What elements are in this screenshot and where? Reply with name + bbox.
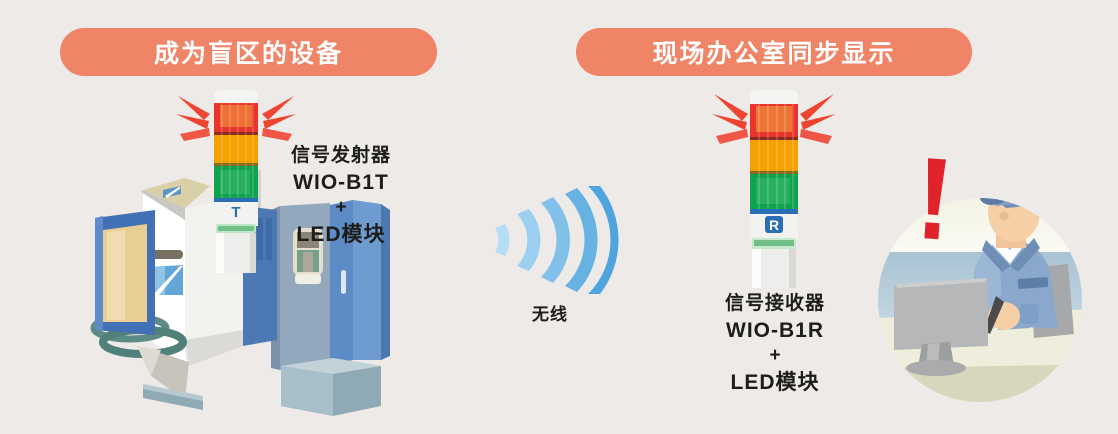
tower-indicator-led <box>754 240 794 246</box>
tower-flash-right-icon <box>800 94 836 144</box>
receiver-caption-cn-top: 信号接收器 <box>700 292 850 317</box>
header-pill-office-sync-display: 现场办公室同步显示 <box>576 28 972 76</box>
transmitter-caption: 信号发射器 WIO-B1T + LED模块 <box>270 144 412 248</box>
wireless-waves-svg <box>487 186 613 294</box>
tower-badge-label: T <box>231 204 240 221</box>
tower-segment-amber <box>750 140 798 174</box>
scene-worker-pocket <box>1018 277 1049 289</box>
tower-segment-amber <box>214 135 258 166</box>
transmitter-caption-cn-top: 信号发射器 <box>270 144 412 169</box>
tower-flash-right-icon <box>262 96 296 141</box>
receiver-caption-cn-bottom: LED模块 <box>700 369 850 396</box>
receiver-caption-plus: + <box>700 344 850 369</box>
transmitter-caption-plus: + <box>270 196 412 221</box>
tower-pole-highlight <box>216 233 224 273</box>
tower-pole-shadow <box>789 249 796 288</box>
machine-hmi-base <box>295 274 321 284</box>
wave-arc-2 <box>517 209 540 271</box>
machine-door-handle <box>341 270 346 294</box>
office-worker-svg <box>878 168 1118 434</box>
tower-flash-left-icon <box>712 94 748 144</box>
wave-arc-3 <box>541 197 570 283</box>
receiver-caption: 信号接收器 WIO-B1R + LED模块 <box>700 292 850 396</box>
tower-badge-label: R <box>769 217 779 233</box>
tower-indicator-led <box>218 226 254 231</box>
tower-segment-red-glow <box>756 106 792 132</box>
machine-drum-edge <box>95 216 103 331</box>
signal-receiver-tower: R <box>712 88 836 288</box>
wireless-waves-icon <box>487 186 613 294</box>
receiver-tower-svg: R <box>712 88 836 288</box>
illustration-canvas: 成为盲区的设备 现场办公室同步显示 <box>0 0 1118 434</box>
scene-worker-cuff <box>1020 304 1038 324</box>
tower-flash-left-icon <box>176 96 210 141</box>
machine-drum-panel-hl <box>107 230 125 320</box>
scene-monitor-screen <box>894 278 988 350</box>
tower-module-stripe <box>750 209 798 214</box>
tower-module-stripe <box>214 198 258 202</box>
machine-hmi-key-center <box>303 252 313 272</box>
transmitter-caption-model: WIO-B1T <box>270 169 412 196</box>
transmitter-caption-cn-bottom: LED模块 <box>270 221 412 248</box>
wave-arc-1 <box>495 224 510 256</box>
tower-segment-red-glow <box>220 105 252 127</box>
alert-exclamation-dot <box>924 222 939 239</box>
header-pill-blind-spot-equipment: 成为盲区的设备 <box>60 28 437 76</box>
office-worker-scene <box>878 168 1118 434</box>
receiver-caption-model: WIO-B1R <box>700 317 850 344</box>
scene-desk-front <box>878 364 1118 434</box>
wireless-label: 无线 <box>500 300 600 325</box>
tower-pole-highlight <box>752 249 761 288</box>
tower-pole-shadow <box>250 233 256 273</box>
scene-worker-head <box>988 182 1040 242</box>
scene-clip-group <box>878 168 1118 434</box>
scene-worker-face-shade <box>999 212 1009 220</box>
scene-monitor-base <box>906 360 966 376</box>
